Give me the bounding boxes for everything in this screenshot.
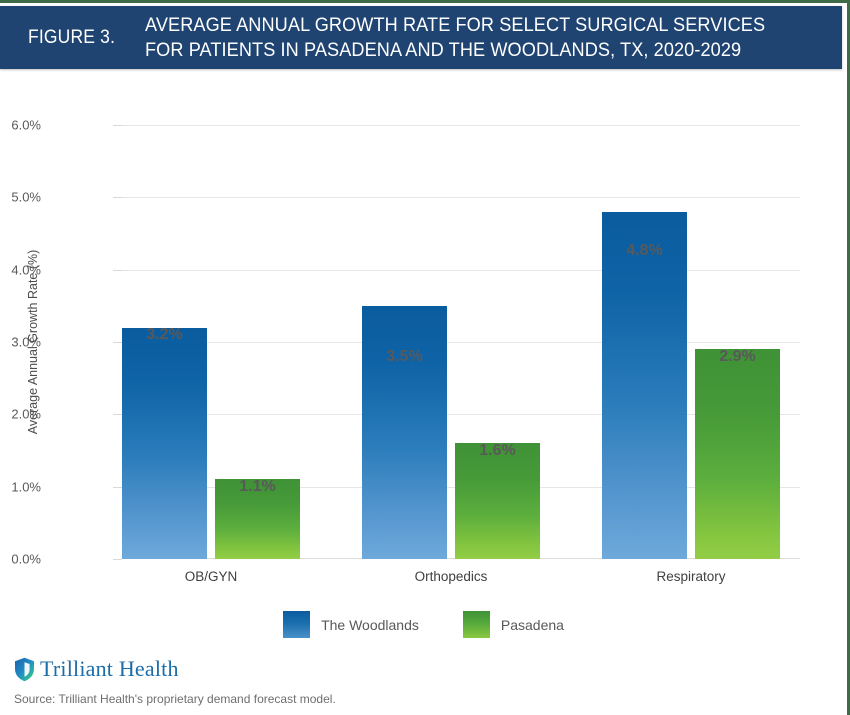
y-tick-mark-5 bbox=[113, 197, 122, 198]
bar-pasadena-orthopedics[interactable] bbox=[455, 443, 540, 559]
bar-label-pasadena-respiratory: 2.9% bbox=[683, 348, 793, 366]
bar-woodlands-respiratory[interactable] bbox=[602, 212, 687, 559]
bar-label-pasadena-orthopedics: 1.6% bbox=[443, 442, 553, 460]
x-axis-label-obgyn: OB/GYN bbox=[121, 569, 301, 584]
legend-item-pasadena[interactable]: Pasadena bbox=[463, 611, 564, 638]
y-tick-mark-4 bbox=[113, 270, 122, 271]
figure-header-banner: FIGURE 3. AVERAGE ANNUAL GROWTH RATE FOR… bbox=[0, 6, 842, 69]
brand-logo-text: Trilliant Health bbox=[40, 656, 179, 682]
bar-label-woodlands-respiratory: 4.8% bbox=[590, 242, 700, 260]
figure-page: FIGURE 3. AVERAGE ANNUAL GROWTH RATE FOR… bbox=[0, 0, 850, 715]
plot-area: 3.2% 1.1% 3.5% 1.6% 4.8% 2.9% bbox=[122, 125, 800, 559]
bar-label-woodlands-obgyn: 3.2% bbox=[110, 326, 220, 344]
legend-label-pasadena: Pasadena bbox=[501, 617, 564, 633]
chart-container: Average Annual Growth Rate (%) 6.0% 5.0%… bbox=[0, 69, 847, 649]
figure-number: FIGURE 3. bbox=[28, 27, 115, 49]
y-tick-mark-2 bbox=[113, 414, 122, 415]
shield-icon bbox=[14, 657, 35, 682]
gridline-6 bbox=[122, 125, 800, 126]
bar-woodlands-obgyn[interactable] bbox=[122, 328, 207, 560]
y-tick-label-5: 5.0% bbox=[0, 190, 41, 205]
x-axis-label-orthopedics: Orthopedics bbox=[361, 569, 541, 584]
y-tick-label-2: 2.0% bbox=[0, 407, 41, 422]
source-note: Source: Trilliant Health's proprietary d… bbox=[14, 692, 336, 706]
y-tick-mark-1 bbox=[113, 487, 122, 488]
legend-swatch-icon-woodlands bbox=[283, 611, 310, 638]
gridline-5 bbox=[122, 197, 800, 198]
legend-item-the-woodlands[interactable]: The Woodlands bbox=[283, 611, 419, 638]
gridline-4 bbox=[122, 270, 800, 271]
legend-label-woodlands: The Woodlands bbox=[321, 617, 419, 633]
bar-woodlands-orthopedics[interactable] bbox=[362, 306, 447, 559]
bar-pasadena-respiratory[interactable] bbox=[695, 349, 780, 559]
figure-title-line-2: FOR PATIENTS IN PASADENA AND THE WOODLAN… bbox=[145, 38, 765, 63]
figure-title: AVERAGE ANNUAL GROWTH RATE FOR SELECT SU… bbox=[145, 13, 765, 63]
y-tick-label-1: 1.0% bbox=[0, 479, 41, 494]
y-tick-label-0: 0.0% bbox=[0, 552, 41, 567]
figure-title-line-1: AVERAGE ANNUAL GROWTH RATE FOR SELECT SU… bbox=[145, 13, 765, 38]
y-tick-mark-6 bbox=[113, 125, 122, 126]
bar-label-woodlands-orthopedics: 3.5% bbox=[350, 348, 460, 366]
gridline-3 bbox=[122, 342, 800, 343]
y-tick-label-6: 6.0% bbox=[0, 118, 41, 133]
y-tick-label-4: 4.0% bbox=[0, 262, 41, 277]
legend-swatch-icon-pasadena bbox=[463, 611, 490, 638]
y-tick-label-3: 3.0% bbox=[0, 335, 41, 350]
x-axis-label-respiratory: Respiratory bbox=[601, 569, 781, 584]
brand-logo: Trilliant Health bbox=[14, 656, 179, 682]
y-tick-mark-0 bbox=[113, 559, 122, 560]
bar-label-pasadena-obgyn: 1.1% bbox=[203, 478, 313, 496]
chart-legend: The Woodlands Pasadena bbox=[0, 611, 847, 638]
